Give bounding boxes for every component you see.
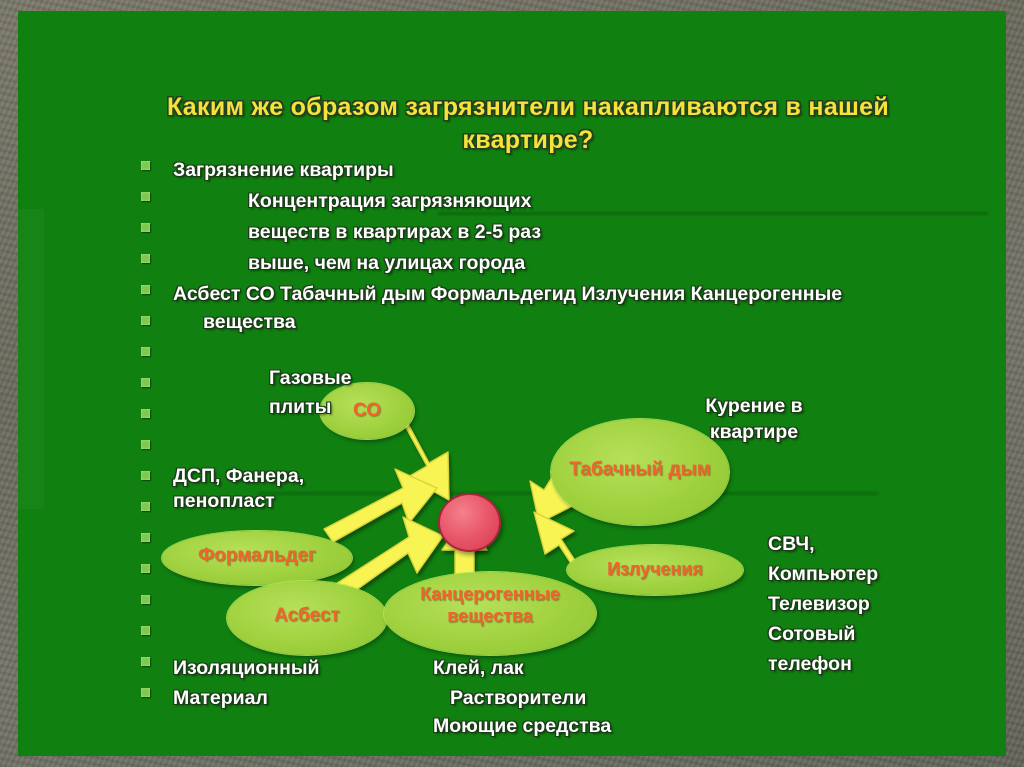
caption-smoking-line1: Курение в: [654, 394, 854, 419]
bullet-text-2: Концентрация загрязняющих: [248, 189, 532, 213]
node-asbestos-label: Асбест: [227, 605, 387, 627]
arrow-co-to-hub: [370, 396, 449, 500]
bullet-marker: [141, 192, 150, 201]
caption-devices-line2: Компьютер: [768, 562, 878, 587]
caption-smoking-line2: квартире: [654, 420, 854, 445]
page-title: Каким же образом загрязнители накапливаю…: [113, 91, 943, 157]
caption-devices-line3: Телевизор: [768, 592, 870, 617]
bullet-marker: [141, 223, 150, 232]
scan-artifact-line-2: [258, 492, 878, 495]
bullet-marker: [141, 626, 150, 635]
node-formaldehyde: [162, 531, 352, 585]
caption-glue-line1: Клей, лак: [433, 656, 524, 681]
bullet-marker: [141, 502, 150, 511]
caption-devices-line4: Сотовый: [768, 622, 855, 647]
bullet-marker: [141, 657, 150, 666]
arrow-formaldehyde-to-hub: [324, 469, 437, 542]
caption-glue-line2: Растворители: [450, 686, 586, 711]
caption-glue-line3: Моющие средства: [433, 714, 611, 739]
bullet-marker: [141, 161, 150, 170]
caption-gas-stoves-line2: плиты: [269, 395, 331, 420]
caption-insulation-line2: Материал: [173, 686, 268, 711]
caption-boards-line2: пенопласт: [173, 489, 275, 514]
node-radiation-label: Излучения: [567, 558, 743, 580]
arrow-carcinogens-to-hub: [442, 516, 487, 603]
arrow-radiation-to-hub: [534, 512, 576, 568]
bullet-marker: [141, 533, 150, 542]
node-tobacco-smoke-label: Табачный дым: [530, 459, 750, 481]
node-co: [320, 383, 414, 439]
pollution-hub: [438, 493, 501, 552]
bullet-text-3: веществ в квартирах в 2-5 раз: [248, 220, 541, 244]
bullet-marker: [141, 564, 150, 573]
arrow-asbestos-to-hub: [328, 517, 443, 603]
bullet-marker: [141, 347, 150, 356]
bullet-marker: [141, 471, 150, 480]
arrow-tobacco-to-hub: [530, 466, 578, 523]
bullet-text-6: вещества: [203, 310, 296, 334]
bullet-marker: [141, 440, 150, 449]
slide-canvas: Каким же образом загрязнители накапливаю…: [18, 11, 1006, 756]
slide-frame: Каким же образом загрязнители накапливаю…: [0, 0, 1024, 767]
bullet-text-4: выше, чем на улицах города: [248, 251, 525, 275]
bullet-marker: [141, 285, 150, 294]
node-asbestos: [227, 581, 387, 655]
caption-devices-line1: СВЧ,: [768, 532, 815, 557]
caption-gas-stoves-line1: Газовые: [269, 366, 352, 391]
node-carcinogens-label-line2: вещества: [384, 605, 596, 627]
bullet-marker: [141, 595, 150, 604]
bullet-text-1: Загрязнение квартиры: [173, 158, 394, 182]
bullet-marker: [141, 409, 150, 418]
node-radiation: [567, 545, 743, 595]
caption-insulation-line1: Изоляционный: [173, 656, 320, 681]
bullet-text-5: Асбест СО Табачный дым Формальдегид Излу…: [173, 282, 842, 306]
node-tobacco-smoke: [551, 419, 729, 525]
bullet-marker: [141, 378, 150, 387]
bullet-marker: [141, 254, 150, 263]
bullet-marker: [141, 316, 150, 325]
caption-boards-line1: ДСП, Фанера,: [173, 464, 304, 489]
node-formaldehyde-label: Формальдег: [162, 545, 352, 567]
caption-devices-line5: телефон: [768, 652, 852, 677]
scan-artifact-band: [18, 209, 44, 509]
node-co-label: СО: [320, 400, 414, 422]
node-carcinogens: [384, 572, 596, 655]
node-carcinogens-label-line1: Канцерогенные: [384, 583, 596, 605]
bullet-marker: [141, 688, 150, 697]
